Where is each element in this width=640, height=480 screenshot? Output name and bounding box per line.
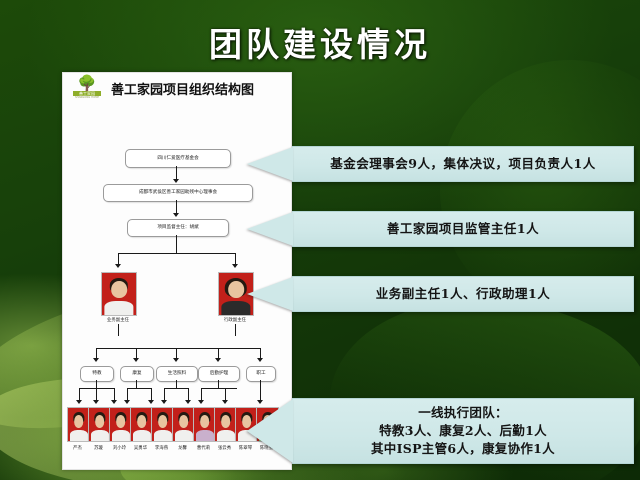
photo-head — [228, 281, 244, 298]
connector-arrow-icon — [173, 213, 179, 217]
org-node-supervisor: 项目监督主任：胡斌 — [127, 219, 229, 237]
photo-head — [95, 415, 105, 428]
staff-photo — [193, 407, 216, 442]
connector-line — [118, 253, 235, 254]
connector-line — [201, 388, 237, 389]
callout-banner-3: 业务副主任1人、行政助理1人 — [292, 276, 634, 312]
photo-head — [200, 415, 210, 428]
logo-subtitle: SHANGONG HOME — [73, 96, 101, 100]
deputy-photo — [101, 272, 137, 316]
connector-line — [164, 388, 188, 389]
callout-banner-4: 一线执行团队： 特教3人、康复2人、后勤1人 其中ISP主管6人，康复协作1人 — [292, 398, 634, 464]
slide-title: 团队建设情况 — [0, 18, 640, 66]
connector-arrow-icon — [133, 358, 139, 362]
photo-body — [153, 430, 171, 441]
connector-arrow-icon — [198, 400, 204, 404]
connector-line — [118, 324, 119, 336]
connector-line — [96, 380, 97, 388]
photo-body — [174, 430, 192, 441]
photo-head — [221, 415, 231, 428]
connector-arrow-icon — [111, 400, 117, 404]
org-dept-box: 职工 — [246, 366, 276, 382]
callout-line-3: 其中ISP主管6人，康复协作1人 — [371, 440, 555, 458]
deputy-label: 行政副主任 — [218, 317, 252, 323]
connector-line — [260, 380, 261, 401]
org-dept-box: 特教 — [80, 366, 114, 382]
callout-text: 业务副主任1人、行政助理1人 — [376, 285, 550, 303]
staff-photo — [88, 407, 111, 442]
org-dept-box: 生活照料 — [156, 366, 198, 382]
connector-arrow-icon — [173, 179, 179, 183]
photo-body — [104, 301, 133, 315]
photo-body — [90, 430, 108, 441]
callout-arrow-icon — [247, 277, 293, 311]
staff-name: 刘小玲 — [109, 445, 130, 451]
callout-arrow-icon — [247, 212, 293, 246]
callout-arrow-icon — [247, 147, 293, 181]
connector-arrow-icon — [173, 358, 179, 362]
connector-line — [136, 380, 137, 388]
connector-line — [218, 380, 219, 388]
photo-body — [195, 430, 213, 441]
photo-head — [111, 281, 127, 298]
photo-head — [74, 415, 84, 428]
staff-name: 龙馨 — [172, 445, 193, 451]
org-dept-box: 后勤护理 — [198, 366, 240, 382]
staff-name: 严杰 — [67, 445, 88, 451]
callout-banner-2: 善工家园项目监管主任1人 — [292, 211, 634, 247]
connector-line — [176, 166, 177, 180]
connector-line — [176, 380, 177, 388]
org-node-foundation: 四川仁爱医疗基金会 — [125, 149, 231, 168]
connector-line — [127, 388, 151, 389]
photo-head — [116, 415, 126, 428]
connector-arrow-icon — [148, 400, 154, 404]
staff-photo — [67, 407, 90, 442]
connector-arrow-icon — [93, 400, 99, 404]
connector-arrow-icon — [76, 400, 82, 404]
tree-glyph-icon: 🌳 — [73, 77, 101, 90]
staff-photo — [214, 407, 237, 442]
photo-body — [216, 430, 234, 441]
connector-arrow-icon — [257, 358, 263, 362]
connector-line — [96, 348, 261, 349]
callout-text: 基金会理事会9人，集体决议，项目负责人1人 — [330, 155, 595, 173]
staff-name: 李海燕 — [151, 445, 172, 451]
deputy-label: 业务副主任 — [101, 317, 135, 323]
connector-arrow-icon — [124, 400, 130, 404]
connector-arrow-icon — [161, 400, 167, 404]
connector-line — [176, 235, 177, 253]
slide-canvas: 团队建设情况 🌳 善工家园 SHANGONG HOME 善工家园项目组织结构图 … — [0, 0, 640, 480]
connector-arrow-icon — [232, 264, 238, 268]
tree-logo-icon: 🌳 善工家园 SHANGONG HOME — [73, 77, 101, 101]
staff-photo — [109, 407, 132, 442]
callout-line-2: 特教3人、康复2人、后勤1人 — [371, 422, 555, 440]
photo-body — [111, 430, 129, 441]
callout-line-1: 一线执行团队： — [371, 404, 555, 422]
connector-arrow-icon — [93, 358, 99, 362]
connector-line — [235, 324, 236, 336]
photo-head — [137, 415, 147, 428]
photo-body — [132, 430, 150, 441]
connector-arrow-icon — [185, 400, 191, 404]
photo-body — [69, 430, 87, 441]
photo-head — [158, 415, 168, 428]
callout-text: 善工家园项目监管主任1人 — [387, 220, 539, 238]
org-chart-title: 善工家园项目组织结构图 — [111, 79, 254, 98]
staff-photo — [130, 407, 153, 442]
callout-arrow-icon — [247, 399, 293, 463]
org-dept-box: 康复 — [120, 366, 154, 382]
staff-photo — [151, 407, 174, 442]
staff-name: 苏璇 — [88, 445, 109, 451]
org-node-council: 成都市武侯区善工家园助残中心理事会 — [103, 184, 253, 202]
org-chart-header: 🌳 善工家园 SHANGONG HOME 善工家园项目组织结构图 — [63, 73, 291, 103]
staff-photo — [172, 407, 195, 442]
connector-arrow-icon — [215, 358, 221, 362]
connector-arrow-icon — [222, 400, 228, 404]
photo-head — [179, 415, 189, 428]
callout-text-block: 一线执行团队： 特教3人、康复2人、后勤1人 其中ISP主管6人，康复协作1人 — [371, 404, 555, 458]
callout-banner-1: 基金会理事会9人，集体决议，项目负责人1人 — [292, 146, 634, 182]
staff-name: 曹代莉 — [193, 445, 214, 451]
staff-name: 吴勇华 — [130, 445, 151, 451]
connector-line — [176, 200, 177, 214]
connector-arrow-icon — [115, 264, 121, 268]
staff-name: 张云秀 — [214, 445, 235, 451]
